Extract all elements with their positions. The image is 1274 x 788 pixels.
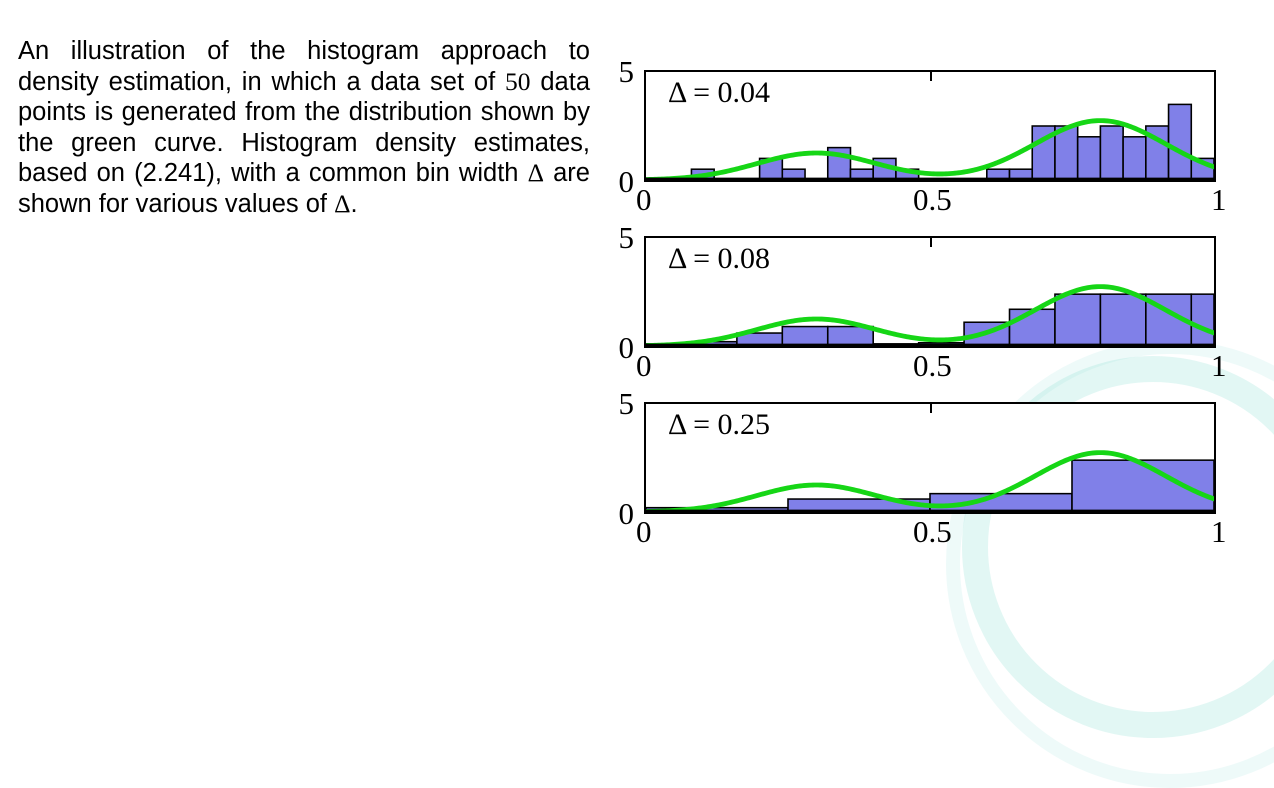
caption-line-6-post: are	[544, 159, 590, 187]
y-axis-tick-bottom: 0	[600, 332, 634, 363]
y-axis-tick-bottom: 0	[600, 498, 634, 529]
figure-caption: An illustration of the histogram approac…	[18, 36, 590, 219]
histogram-bar	[782, 327, 827, 346]
delta-symbol-icon: Δ	[528, 158, 544, 187]
histogram-bar	[1010, 309, 1055, 346]
histogram-figure: 5 0 Δ = 0.04 0 0.5 1 5 0 Δ = 0.08 0 0.5 …	[600, 38, 1260, 568]
caption-line-7-post: .	[350, 190, 357, 218]
histogram-bar	[1169, 104, 1192, 180]
caption-line-7-pre: shown for various values of	[18, 190, 334, 218]
histogram-bar	[1100, 126, 1123, 180]
plot-area-0: Δ = 0.04	[644, 70, 1216, 182]
panel-title-1: Δ = 0.08	[668, 244, 770, 274]
histogram-panel-2: 5 0 Δ = 0.25 0 0.5 1	[600, 370, 1260, 536]
histogram-bar	[1055, 294, 1100, 346]
x-axis-tick-1: 1	[1211, 516, 1227, 547]
plot-area-2: Δ = 0.25	[644, 402, 1216, 514]
panel-title-2: Δ = 0.25	[668, 410, 770, 440]
y-axis-tick-top: 5	[600, 56, 634, 87]
histogram-bar	[1078, 137, 1101, 180]
histogram-bar	[828, 327, 873, 346]
histogram-bar	[1191, 294, 1214, 346]
plot-area-1: Δ = 0.08	[644, 236, 1216, 348]
histogram-bar	[1100, 294, 1145, 346]
histogram-bar	[930, 494, 1072, 512]
histogram-bar	[1072, 460, 1214, 512]
y-axis-tick-top: 5	[600, 222, 634, 253]
y-axis-tick-top: 5	[600, 388, 634, 419]
panel-title-0: Δ = 0.04	[668, 78, 770, 108]
histogram-bar	[1123, 137, 1146, 180]
delta-symbol-icon: Δ	[334, 189, 350, 218]
caption-line-6-pre: (2.241), with a common bin width	[134, 159, 527, 187]
x-axis-tick-05: 0.5	[913, 516, 952, 547]
histogram-panel-0: 5 0 Δ = 0.04 0 0.5 1	[600, 38, 1260, 204]
y-axis-tick-bottom: 0	[600, 166, 634, 197]
caption-datapoint-count: 50	[505, 67, 531, 96]
histogram-panel-1: 5 0 Δ = 0.08 0 0.5 1	[600, 204, 1260, 370]
x-axis-tick-0: 0	[636, 516, 652, 547]
caption-line-1: An illustration of the histogram approac…	[18, 37, 547, 65]
caption-line-3-pre: of	[474, 68, 505, 96]
